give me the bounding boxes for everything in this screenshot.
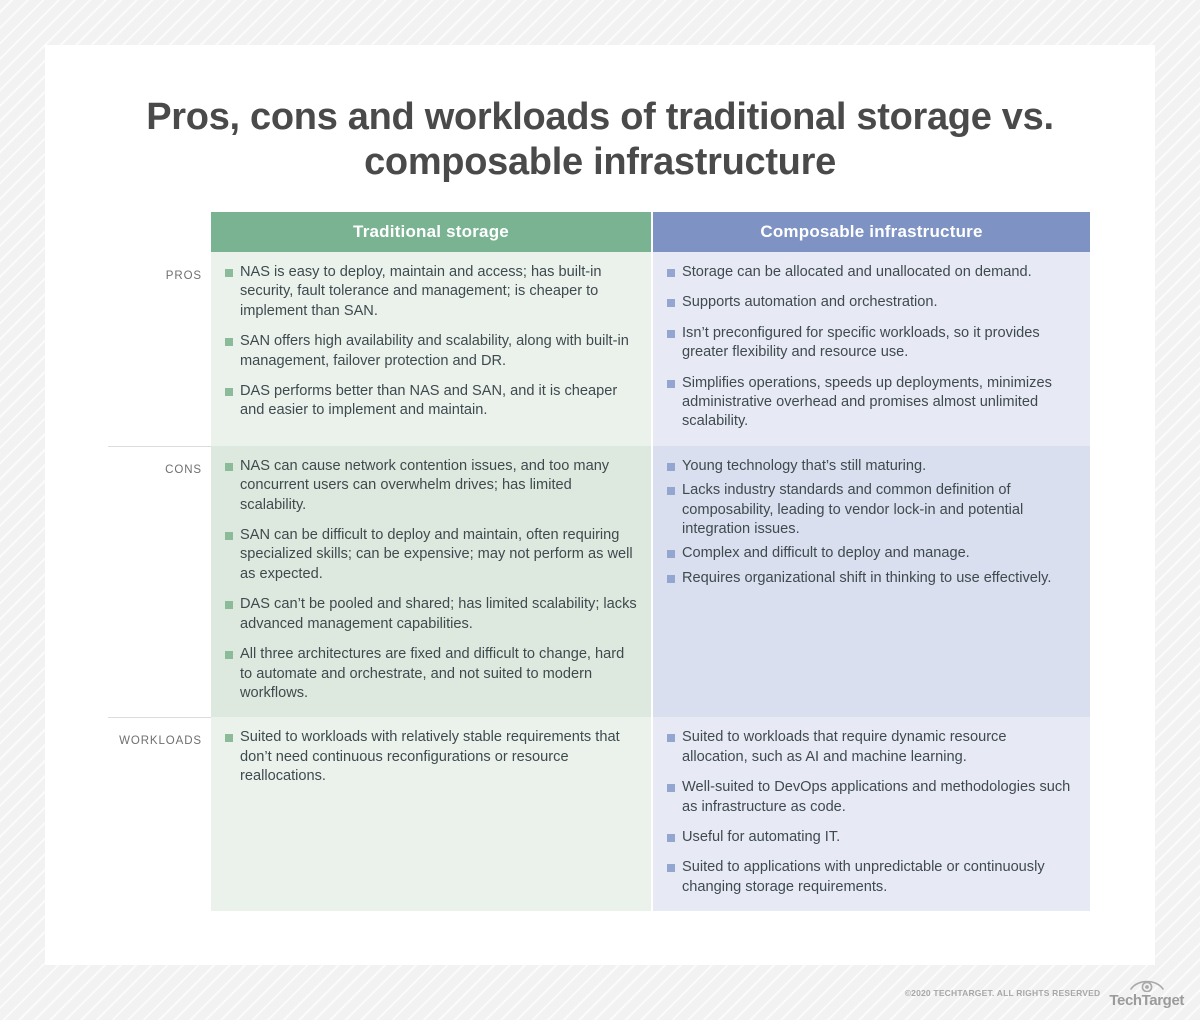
column-header-traditional-label: Traditional storage (353, 222, 509, 242)
column-header-composable-label: Composable infrastructure (760, 222, 982, 242)
list-item: Lacks industry standards and common defi… (667, 481, 1076, 539)
column-header-composable: Composable infrastructure (653, 212, 1090, 252)
bullet-list-pros-traditional: NAS is easy to deploy, maintain and acce… (225, 263, 637, 421)
bullet-list-cons-traditional: NAS can cause network contention issues,… (225, 457, 637, 703)
list-item: SAN can be difficult to deploy and maint… (225, 526, 637, 584)
cell-cons-composable: Young technology that’s still maturing. … (653, 446, 1090, 717)
bullet-list-workloads-composable: Suited to workloads that require dynamic… (667, 728, 1076, 897)
list-item: Requires organizational shift in thinkin… (667, 569, 1076, 588)
list-item: Suited to workloads with relatively stab… (225, 728, 637, 786)
list-item: Young technology that’s still maturing. (667, 457, 1076, 476)
list-item: DAS can’t be pooled and shared; has limi… (225, 595, 637, 634)
table-header-row: Traditional storage Composable infrastru… (108, 212, 1092, 252)
list-item: Storage can be allocated and unallocated… (667, 263, 1076, 282)
list-item: NAS can cause network contention issues,… (225, 457, 637, 515)
bullet-list-pros-composable: Storage can be allocated and unallocated… (667, 263, 1076, 432)
list-item: NAS is easy to deploy, maintain and acce… (225, 263, 637, 321)
cell-workloads-composable: Suited to workloads that require dynamic… (653, 717, 1090, 911)
comparison-table: Traditional storage Composable infrastru… (108, 212, 1092, 911)
cell-pros-traditional: NAS is easy to deploy, maintain and acce… (211, 252, 651, 446)
list-item: All three architectures are fixed and di… (225, 645, 637, 703)
header-corner-spacer (108, 212, 211, 252)
table-row-workloads: WORKLOADS Suited to workloads with relat… (108, 717, 1092, 911)
row-divider (108, 717, 211, 718)
row-label-cons-text: CONS (165, 464, 202, 476)
row-label-workloads: WORKLOADS (108, 717, 211, 911)
row-label-pros: PROS (108, 252, 211, 446)
list-item: SAN offers high availability and scalabi… (225, 332, 637, 371)
cell-workloads-traditional: Suited to workloads with relatively stab… (211, 717, 651, 911)
cell-cons-traditional: NAS can cause network contention issues,… (211, 446, 651, 717)
list-item: DAS performs better than NAS and SAN, an… (225, 382, 637, 421)
table-row-cons: CONS NAS can cause network contention is… (108, 446, 1092, 717)
list-item: Simplifies operations, speeds up deploym… (667, 374, 1076, 432)
page-title: Pros, cons and workloads of traditional … (145, 95, 1055, 185)
content-card: Pros, cons and workloads of traditional … (45, 45, 1155, 965)
footer: ©2020 TECHTARGET. ALL RIGHTS RESERVED Te… (905, 978, 1184, 1008)
list-item: Suited to applications with unpredictabl… (667, 858, 1076, 897)
row-divider (108, 446, 211, 447)
list-item: Complex and difficult to deploy and mana… (667, 544, 1076, 563)
techtarget-wordmark: TechTarget (1109, 993, 1184, 1008)
table-row-pros: PROS NAS is easy to deploy, maintain and… (108, 252, 1092, 446)
column-header-traditional: Traditional storage (211, 212, 651, 252)
bullet-list-workloads-traditional: Suited to workloads with relatively stab… (225, 728, 637, 786)
row-label-cons: CONS (108, 446, 211, 717)
list-item: Isn’t preconfigured for specific workloa… (667, 324, 1076, 363)
row-label-pros-text: PROS (166, 270, 202, 282)
list-item: Well-suited to DevOps applications and m… (667, 778, 1076, 817)
row-label-workloads-text: WORKLOADS (119, 735, 202, 747)
copyright-text: ©2020 TECHTARGET. ALL RIGHTS RESERVED (905, 988, 1101, 998)
cell-pros-composable: Storage can be allocated and unallocated… (653, 252, 1090, 446)
bullet-list-cons-composable: Young technology that’s still maturing. … (667, 457, 1076, 588)
list-item: Useful for automating IT. (667, 828, 1076, 847)
techtarget-logo: TechTarget (1109, 978, 1184, 1008)
eye-icon (1130, 978, 1164, 992)
list-item: Suited to workloads that require dynamic… (667, 728, 1076, 767)
list-item: Supports automation and orchestration. (667, 293, 1076, 312)
